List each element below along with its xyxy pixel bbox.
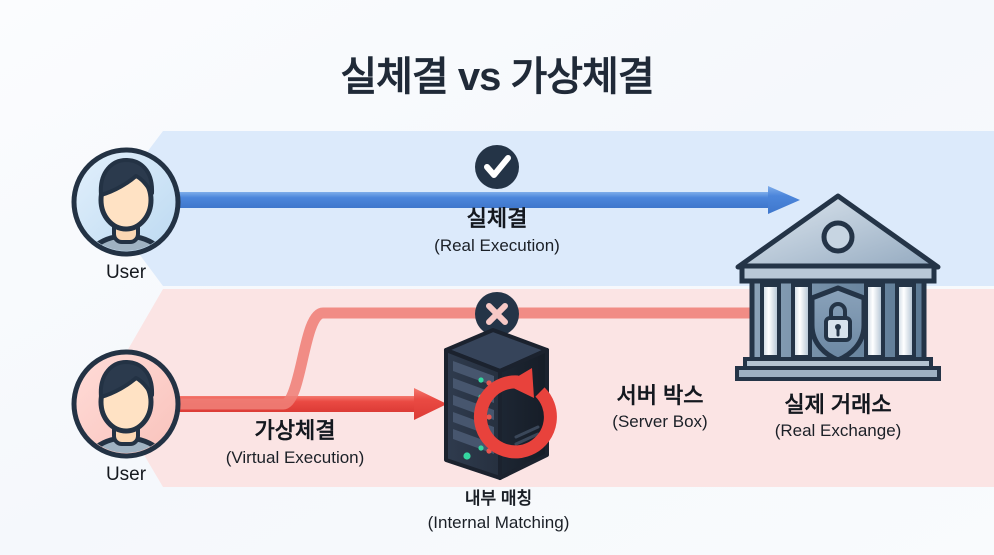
caption-user-top: User bbox=[56, 262, 196, 284]
label-server-box-ko: 서버 박스 bbox=[575, 383, 745, 408]
diagram-canvas: 실체결 vs 가상체결 실체결 (Real Execution) 가상체결 (V… bbox=[0, 0, 994, 555]
label-real-exchange-en: (Real Exchange) bbox=[738, 420, 938, 441]
caption-internal-matching-en: (Internal Matching) bbox=[396, 512, 601, 533]
caption-user-bottom: User bbox=[56, 464, 196, 486]
label-virtual-execution-ko: 가상체결 bbox=[195, 418, 395, 443]
caption-internal-matching-ko: 내부 매칭 bbox=[396, 488, 601, 509]
page-title: 실체결 vs 가상체결 bbox=[0, 44, 994, 102]
label-real-exchange-ko: 실제 거래소 bbox=[738, 392, 938, 417]
label-virtual-execution-en: (Virtual Execution) bbox=[195, 447, 395, 468]
label-real-execution-ko: 실체결 bbox=[397, 206, 597, 231]
diagram-text-layer: 실체결 vs 가상체결 실체결 (Real Execution) 가상체결 (V… bbox=[0, 0, 994, 555]
label-server-box-en: (Server Box) bbox=[575, 411, 745, 432]
label-real-execution-en: (Real Execution) bbox=[397, 235, 597, 256]
